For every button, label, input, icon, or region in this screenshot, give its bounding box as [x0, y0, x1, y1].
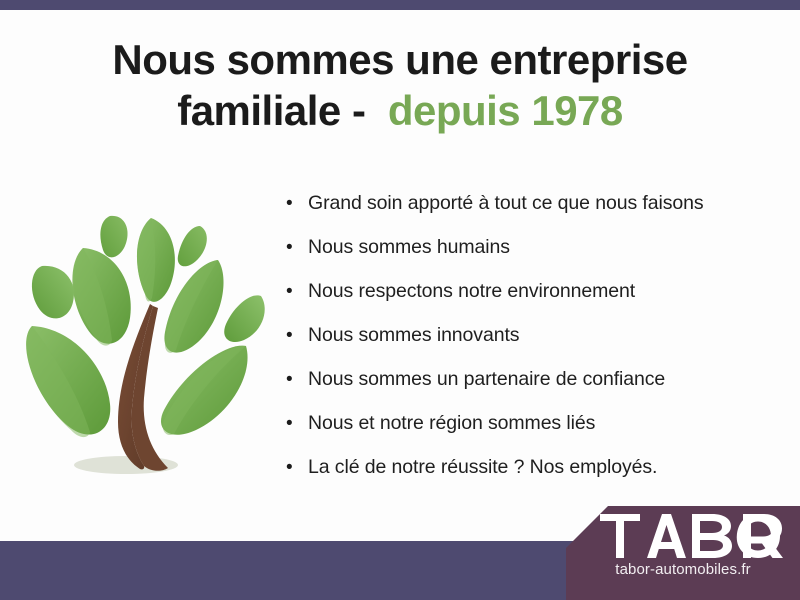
list-item: • Nous respectons notre environnement [286, 280, 786, 324]
title-line-2-plain: familiale [177, 87, 341, 134]
list-item-label: Nous sommes humains [308, 236, 510, 259]
bullet-dot-icon: • [286, 238, 308, 257]
tabor-logo-icon [600, 514, 790, 558]
tree-illustration [18, 182, 282, 494]
bullet-dot-icon: • [286, 326, 308, 345]
tree-trunk-shade [132, 306, 169, 471]
bullet-dot-icon: • [286, 414, 308, 433]
title-line-2: familiale - depuis 1978 [0, 85, 800, 136]
brand-logo-panel: tabor-automobiles.fr [566, 506, 800, 600]
list-item-label: Grand soin apporté à tout ce que nous fa… [308, 192, 704, 215]
tabor-wordmark [600, 514, 790, 558]
bullet-list: • Grand soin apporté à tout ce que nous … [286, 192, 786, 500]
bullet-dot-icon: • [286, 458, 308, 477]
list-item: • La clé de notre réussite ? Nos employé… [286, 456, 786, 500]
list-item: • Nous sommes humains [286, 236, 786, 280]
list-item: • Nous sommes un partenaire de confiance [286, 368, 786, 412]
tree-icon [18, 182, 282, 494]
bullet-dot-icon: • [286, 282, 308, 301]
top-accent-band [0, 0, 800, 10]
list-item: • Nous et notre région sommes liés [286, 412, 786, 456]
bullet-dot-icon: • [286, 370, 308, 389]
title-line-1: Nous sommes une entreprise [0, 34, 800, 85]
brand-logo-inner: tabor-automobiles.fr [566, 506, 800, 600]
list-item-label: Nous et notre région sommes liés [308, 412, 595, 435]
title-accent: depuis 1978 [388, 87, 623, 134]
list-item-label: Nous sommes innovants [308, 324, 519, 347]
list-item-label: La clé de notre réussite ? Nos employés. [308, 456, 657, 479]
list-item: • Grand soin apporté à tout ce que nous … [286, 192, 786, 236]
slide-canvas: Nous sommes une entreprise familiale - d… [0, 0, 800, 600]
brand-url: tabor-automobiles.fr [566, 561, 800, 578]
bullet-dot-icon: • [286, 194, 308, 213]
list-item: • Nous sommes innovants [286, 324, 786, 368]
page-title: Nous sommes une entreprise familiale - d… [0, 34, 800, 136]
list-item-label: Nous sommes un partenaire de confiance [308, 368, 665, 391]
title-dash: - [352, 87, 366, 134]
list-item-label: Nous respectons notre environnement [308, 280, 635, 303]
